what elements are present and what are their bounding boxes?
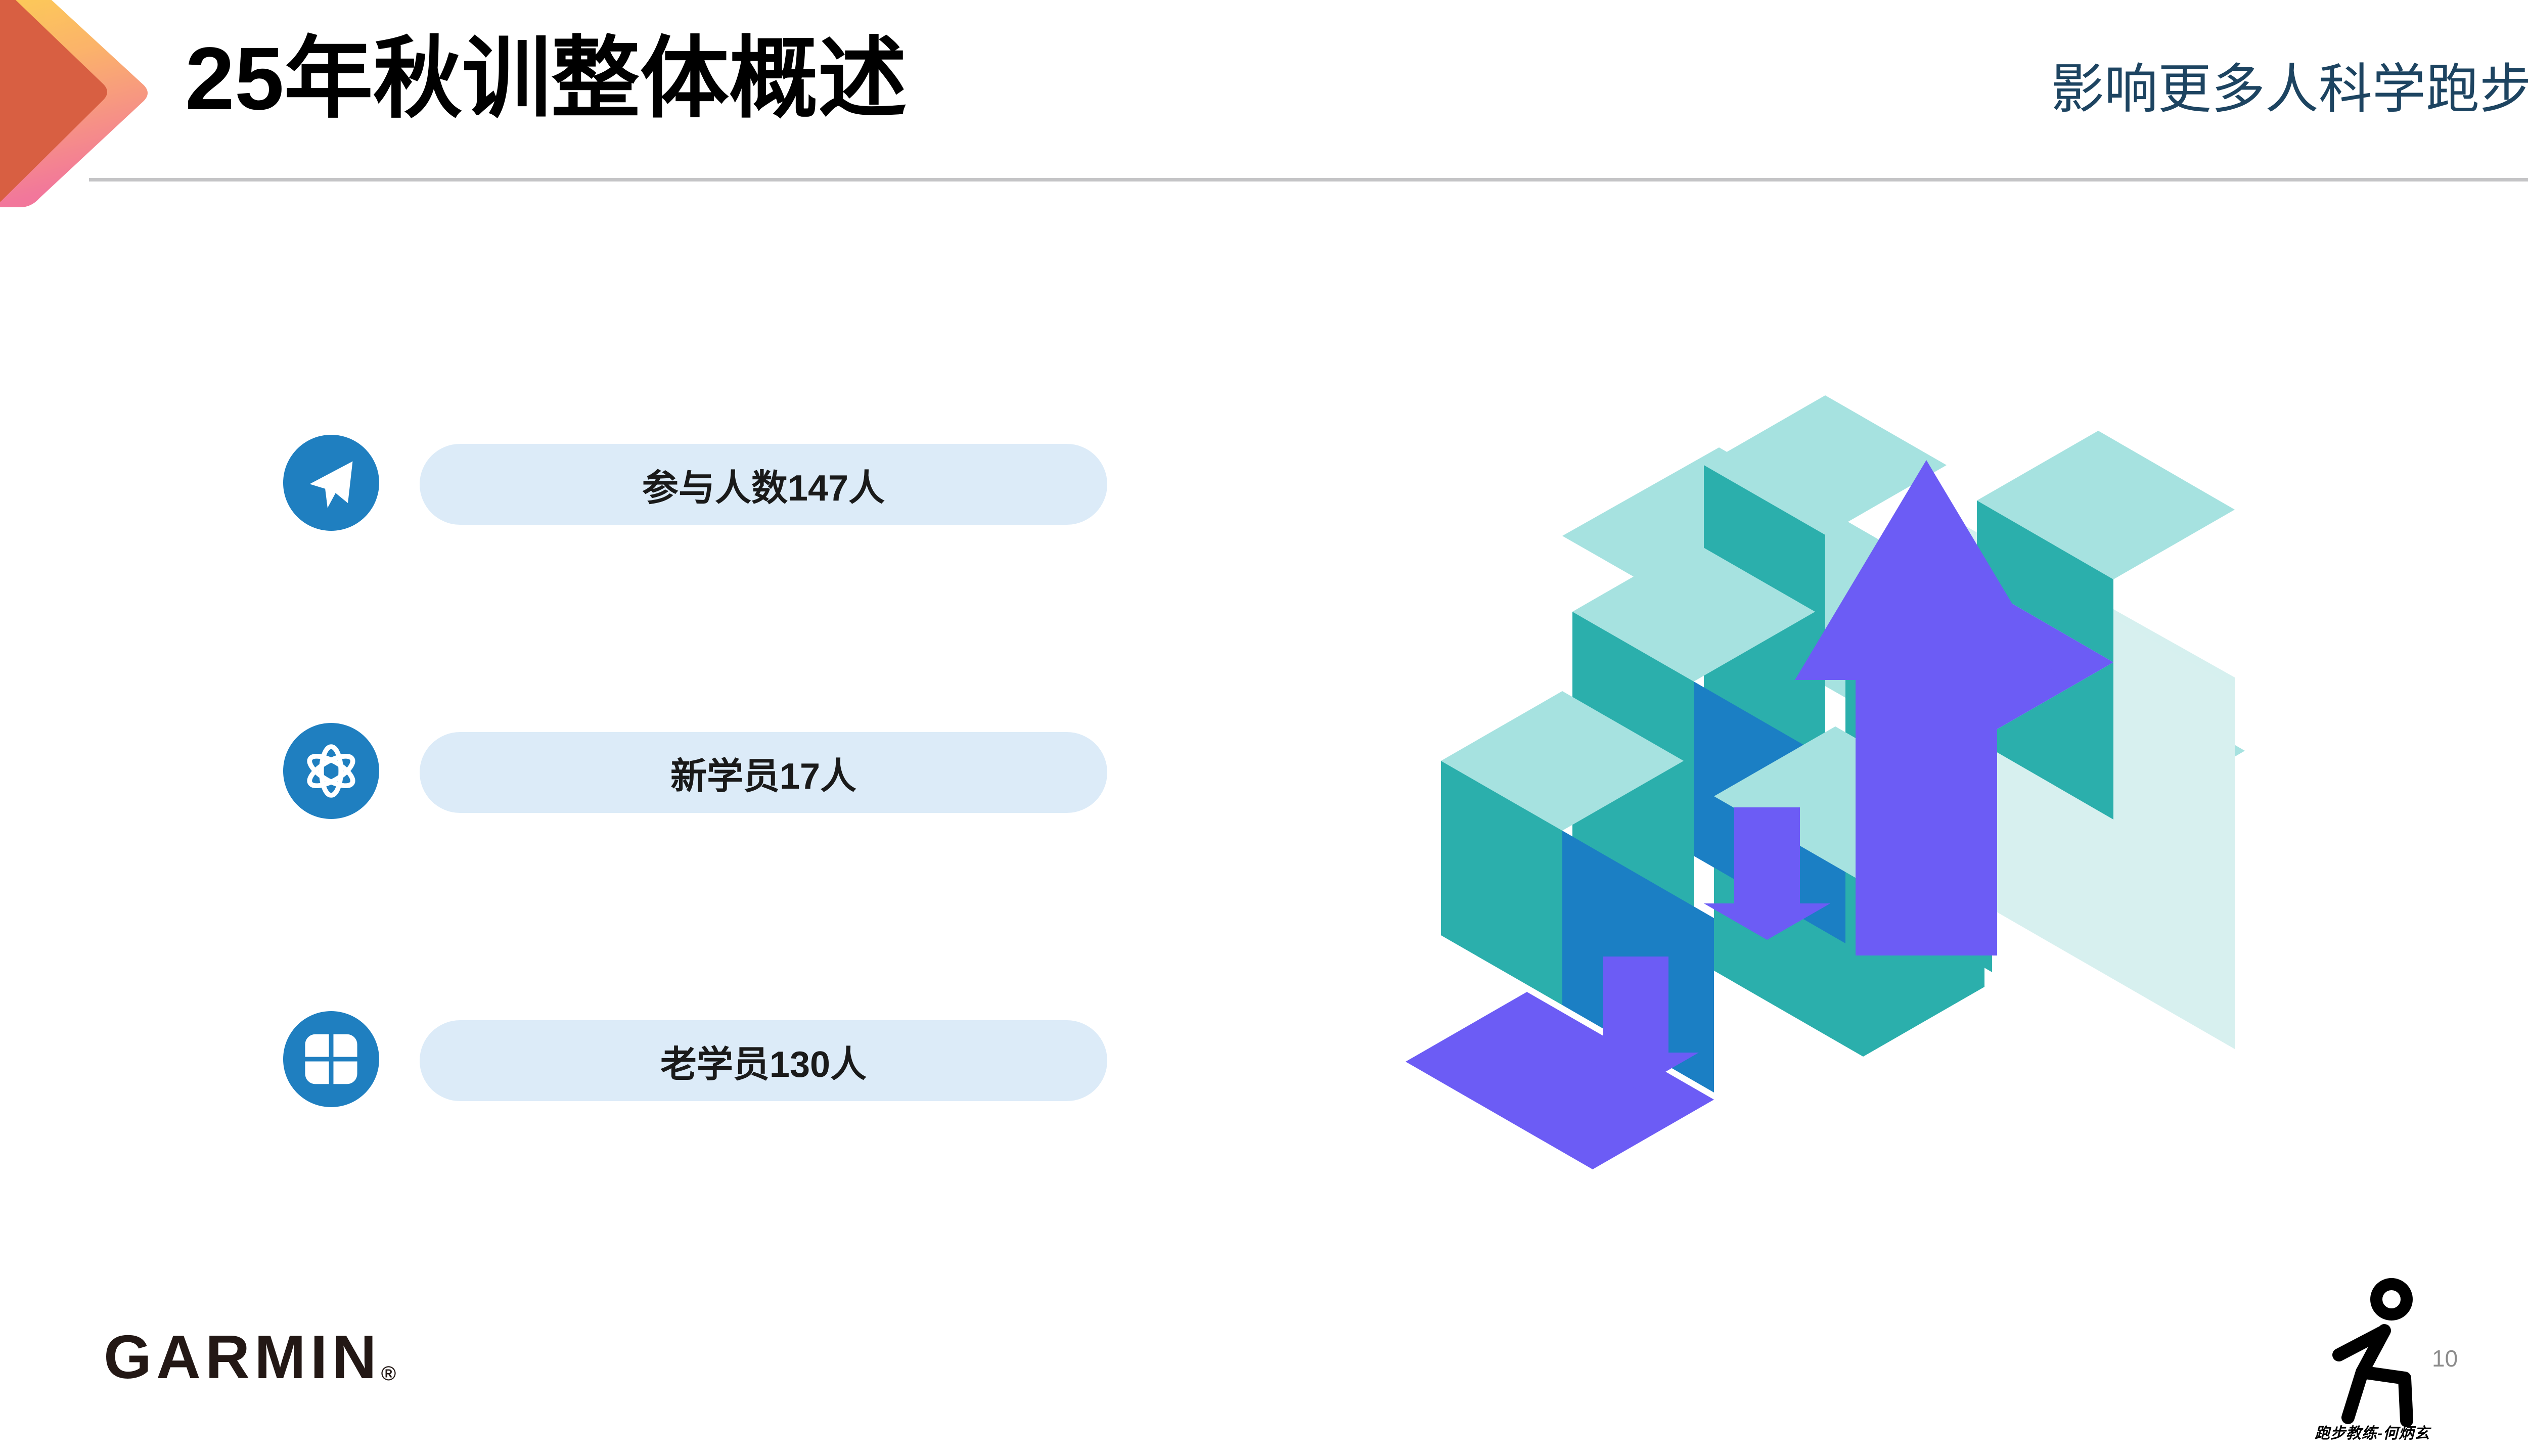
stat-row-returning-students[interactable]: 老学员130人 (283, 1011, 1133, 1107)
garmin-logo: GARMIN® (104, 1322, 396, 1392)
chevron-gradient-shape (0, 0, 148, 207)
staircase-group (1441, 318, 2235, 1132)
stat-row-new-students[interactable]: 新学员17人 (283, 723, 1133, 819)
stats-list: 参与人数147人 新学员17人 (283, 435, 1133, 1299)
stat-pill-returning-students: 老学员130人 (420, 1020, 1107, 1101)
stat-row-participants[interactable]: 参与人数147人 (283, 435, 1133, 531)
atom-icon (283, 723, 379, 819)
coach-name-label: 跑步教练-何炳玄 (2315, 1421, 2430, 1443)
garmin-wordmark: GARMIN (104, 1323, 381, 1391)
stat-label-returning-students: 老学员130人 (660, 1034, 867, 1087)
page-title: 25年秋训整体概述 (185, 29, 907, 129)
stat-pill-new-students: 新学员17人 (420, 732, 1107, 813)
clover-icon (283, 1011, 379, 1107)
corner-decoration (0, 0, 162, 233)
stat-label-new-students: 新学员17人 (670, 746, 856, 799)
chevron-solid-shape (0, 0, 107, 207)
isometric-growth-steps-illustration (1406, 263, 2316, 1304)
paper-plane-icon (283, 435, 379, 531)
stat-label-participants: 参与人数147人 (642, 458, 885, 511)
running-person-icon (2320, 1278, 2441, 1445)
stat-pill-participants: 参与人数147人 (420, 444, 1107, 525)
header-divider (89, 178, 2528, 181)
registered-mark-icon: ® (381, 1362, 396, 1385)
header-tagline: 影响更多人科学跑步 (2051, 61, 2528, 120)
page-number: 10 (2432, 1345, 2458, 1372)
